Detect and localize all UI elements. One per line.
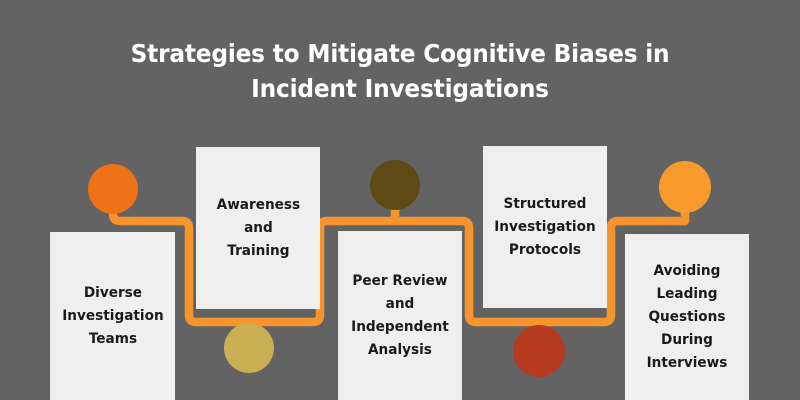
card-label: Avoiding Leading Questions During Interv…	[647, 260, 728, 375]
card-label: Peer Review and Independent Analysis	[351, 270, 449, 362]
node-circle-structured-investigation-protocols	[513, 325, 565, 377]
infographic-canvas: Strategies to Mitigate Cognitive Biases …	[0, 0, 800, 400]
node-circle-awareness-and-training	[224, 323, 274, 373]
card-avoiding-leading-questions-during-interviews[interactable]: Avoiding Leading Questions During Interv…	[625, 234, 749, 400]
card-label: Awareness and Training	[216, 194, 299, 263]
card-label: Diverse Investigation Teams	[62, 282, 163, 351]
node-circle-avoiding-leading-questions-during-interviews	[659, 161, 711, 213]
card-diverse-investigation-teams[interactable]: Diverse Investigation Teams	[50, 232, 175, 400]
node-circle-diverse-investigation-teams	[88, 164, 138, 214]
card-awareness-and-training[interactable]: Awareness and Training	[196, 147, 320, 309]
card-peer-review-and-independent-analysis[interactable]: Peer Review and Independent Analysis	[338, 231, 462, 400]
node-circle-peer-review-and-independent-analysis	[370, 160, 420, 210]
card-label: Structured Investigation Protocols	[494, 193, 595, 262]
card-structured-investigation-protocols[interactable]: Structured Investigation Protocols	[483, 146, 607, 308]
